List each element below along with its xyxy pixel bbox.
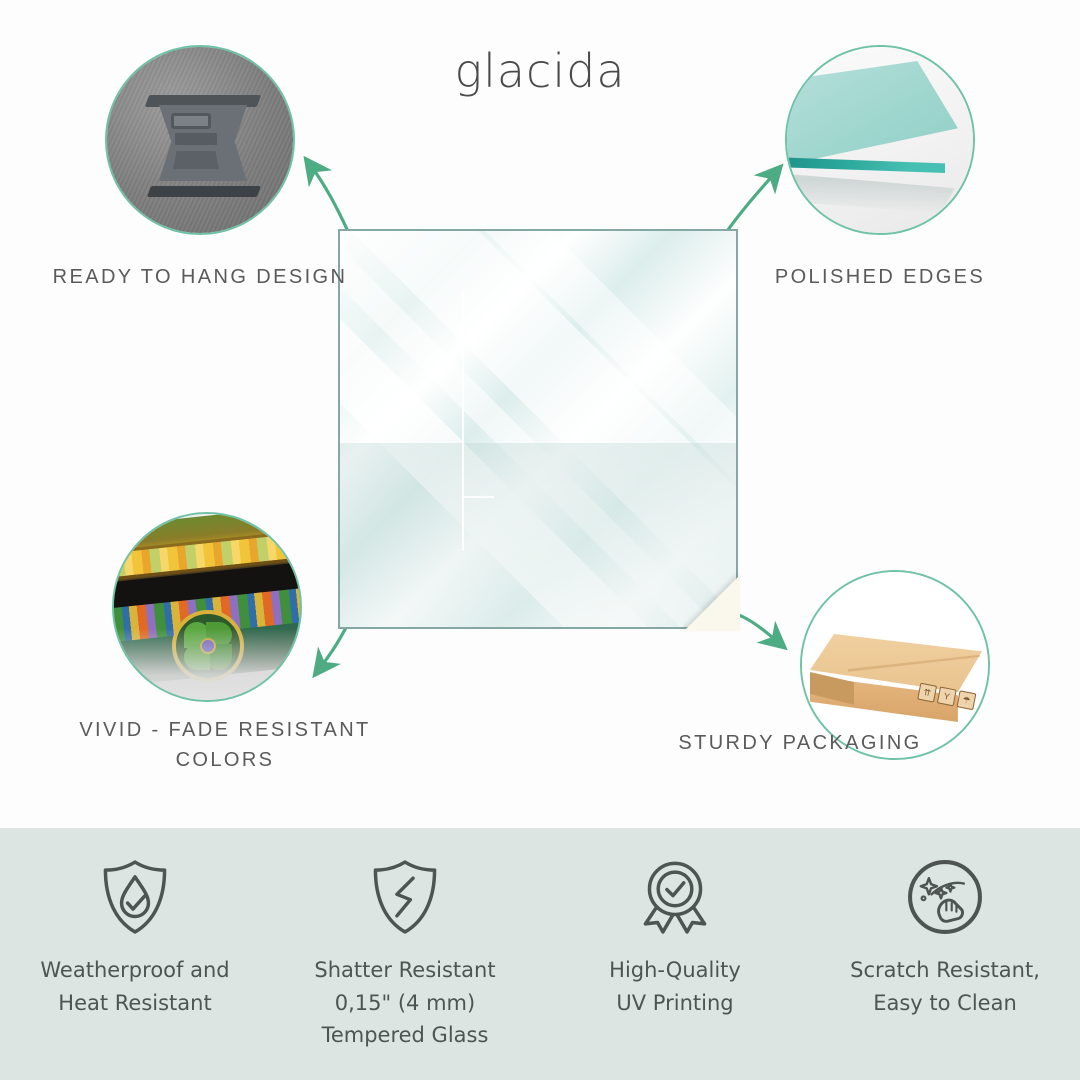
spec-weatherproof: Weatherproof and Heat Resistant bbox=[0, 828, 270, 1080]
spec-label-weatherproof: Weatherproof and Heat Resistant bbox=[40, 954, 229, 1019]
shield-bolt-icon bbox=[362, 854, 448, 940]
feature-image-polished-edges bbox=[785, 45, 975, 235]
feature-caption-sturdy-packaging: STURDY PACKAGING bbox=[650, 728, 950, 758]
fragile-icon: Y bbox=[937, 686, 957, 706]
shield-droplet-check-icon bbox=[92, 854, 178, 940]
feature-image-ready-to-hang bbox=[105, 45, 295, 235]
specs-band: Weatherproof and Heat Resistant Shatter … bbox=[0, 828, 1080, 1080]
feature-image-vivid-colors bbox=[112, 512, 302, 702]
feature-caption-polished-edges: POLISHED EDGES bbox=[730, 262, 1030, 292]
protective-film-corner bbox=[684, 575, 740, 631]
glass-highlight-line bbox=[462, 496, 494, 498]
spec-label-uv-printing: High-Quality UV Printing bbox=[609, 954, 741, 1019]
award-badge-check-icon bbox=[632, 854, 718, 940]
glass-shade-band bbox=[340, 443, 736, 629]
glass-surface bbox=[338, 229, 738, 629]
product-infographic: glacida bbox=[0, 0, 1080, 1080]
sparkle-wiping-hand-icon bbox=[902, 854, 988, 940]
glass-panel bbox=[338, 229, 738, 629]
feature-caption-vivid-colors: VIVID - FADE RESISTANT COLORS bbox=[35, 715, 415, 775]
artwork-fade-overlay bbox=[114, 628, 300, 700]
feature-caption-ready-to-hang: READY TO HANG DESIGN bbox=[40, 262, 360, 292]
spec-label-scratch-resistant: Scratch Resistant, Easy to Clean bbox=[850, 954, 1040, 1019]
hanging-bracket-icon bbox=[151, 95, 255, 191]
glass-highlight-line bbox=[462, 291, 464, 551]
spec-label-shatter-resistant: Shatter Resistant 0,15" (4 mm) Tempered … bbox=[314, 954, 495, 1052]
this-way-up-icon: ⇈ bbox=[917, 683, 937, 703]
spec-shatter-resistant: Shatter Resistant 0,15" (4 mm) Tempered … bbox=[270, 828, 540, 1080]
spec-uv-printing: High-Quality UV Printing bbox=[540, 828, 810, 1080]
keep-dry-icon: ☂ bbox=[956, 690, 976, 710]
spec-scratch-resistant: Scratch Resistant, Easy to Clean bbox=[810, 828, 1080, 1080]
